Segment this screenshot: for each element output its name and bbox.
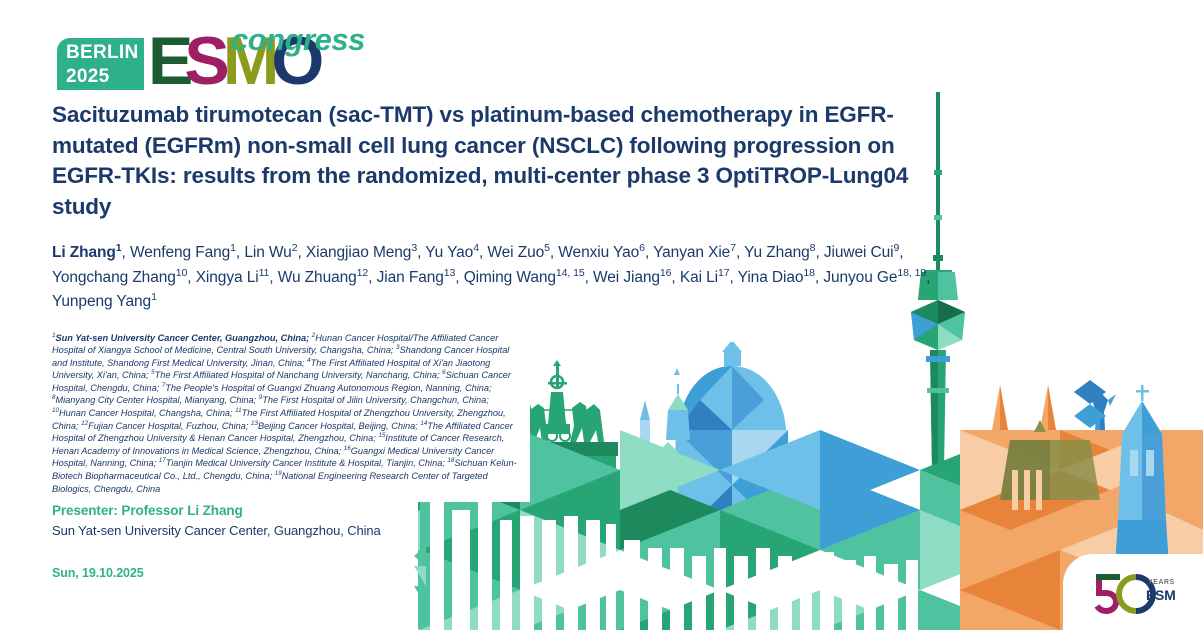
logo-years-label: YEARS <box>1148 579 1175 586</box>
logo-zero-left-arc <box>1119 577 1136 611</box>
anniversary-logo-mark: YEARS ESMO <box>1090 569 1176 615</box>
esmo-letter-e: E <box>148 32 189 90</box>
esmo-50-years-logo: YEARS ESMO <box>1063 554 1203 630</box>
teal-accent-triangles <box>414 546 426 606</box>
badge-year-label: 2025 <box>66 65 144 89</box>
congress-wordmark: congress <box>231 22 365 58</box>
affiliation-list: 1Sun Yat-sen University Cancer Center, G… <box>52 332 522 496</box>
esmo-letter-s: S <box>184 32 225 90</box>
presentation-date: Sun, 19.10.2025 <box>52 566 144 580</box>
presenter-block: Presenter: Professor Li Zhang Sun Yat-se… <box>52 503 381 538</box>
logo-esmo-label: ESMO <box>1146 587 1176 603</box>
author-list: Li Zhang1, Wenfeng Fang1, Lin Wu2, Xiang… <box>52 241 932 315</box>
blue-strip-accents <box>1074 380 1106 428</box>
berlin-2025-badge: BERLIN 2025 <box>57 38 144 90</box>
badge-city-label: BERLIN <box>66 41 144 65</box>
right-blue-church <box>1114 385 1170 580</box>
presenter-affiliation: Sun Yat-sen University Cancer Center, Gu… <box>52 523 381 538</box>
conference-title-slide: BERLIN 2025 E S M O congress Sacituzumab… <box>0 0 1203 630</box>
orange-spires <box>990 385 1058 500</box>
page-title: Sacituzumab tirumotecan (sac-TMT) vs pla… <box>52 100 932 222</box>
presenter-name: Presenter: Professor Li Zhang <box>52 503 381 518</box>
logo-five-top-bar <box>1096 574 1120 580</box>
victory-column <box>1080 392 1122 540</box>
logo-five-hook <box>1097 580 1116 611</box>
title-block: Sacituzumab tirumotecan (sac-TMT) vs pla… <box>52 100 932 495</box>
